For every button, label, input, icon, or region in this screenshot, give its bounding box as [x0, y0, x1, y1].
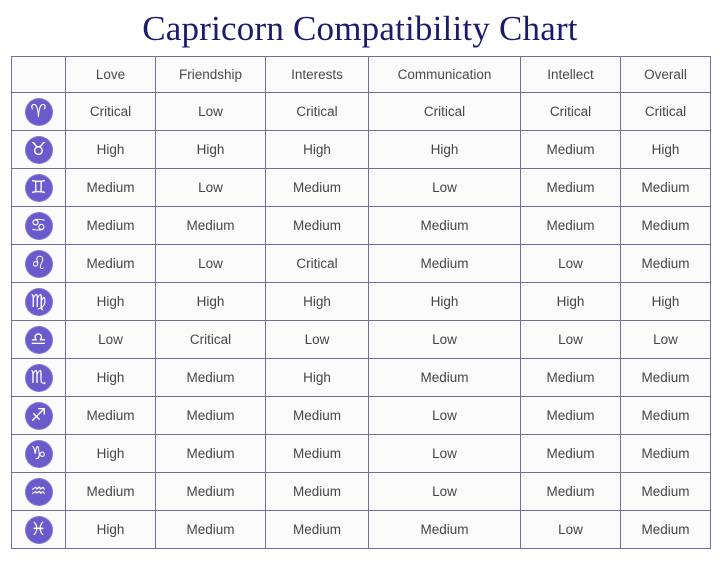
cell-value: Medium [621, 169, 711, 207]
cell-value: Medium [156, 511, 266, 549]
cell-value: High [66, 283, 156, 321]
cell-value: Medium [521, 169, 621, 207]
cell-value: Medium [521, 435, 621, 473]
header-communication: Communication [369, 57, 521, 93]
compatibility-chart-container: Love Friendship Interests Communication … [0, 56, 720, 549]
sign-cell-cancer: ♋ [12, 207, 66, 245]
taurus-zodiac-icon: ♉ [25, 136, 53, 164]
virgo-zodiac-icon: ♍ [25, 288, 53, 316]
table-row: ♓HighMediumMediumMediumLowMedium [12, 511, 711, 549]
sign-cell-sagittarius: ♐ [12, 397, 66, 435]
cell-value: Medium [369, 207, 521, 245]
cell-value: Low [369, 321, 521, 359]
cell-value: Medium [369, 511, 521, 549]
aries-zodiac-icon: ♈ [25, 98, 53, 126]
cell-value: Medium [369, 245, 521, 283]
cell-value: Critical [66, 93, 156, 131]
cell-value: Medium [266, 169, 369, 207]
cell-value: Medium [66, 169, 156, 207]
cell-value: High [369, 131, 521, 169]
cell-value: Low [621, 321, 711, 359]
sign-cell-scorpio: ♏ [12, 359, 66, 397]
sign-cell-virgo: ♍ [12, 283, 66, 321]
cell-value: Medium [156, 207, 266, 245]
table-row: ♑HighMediumMediumLowMediumMedium [12, 435, 711, 473]
page-title: Capricorn Compatibility Chart [0, 0, 720, 56]
cell-value: High [156, 131, 266, 169]
cell-value: Medium [156, 397, 266, 435]
cell-value: High [266, 131, 369, 169]
cell-value: Critical [156, 321, 266, 359]
cell-value: Medium [156, 435, 266, 473]
cell-value: Medium [66, 207, 156, 245]
cell-value: High [66, 131, 156, 169]
cell-value: Low [369, 397, 521, 435]
header-row: Love Friendship Interests Communication … [12, 57, 711, 93]
header-corner [12, 57, 66, 93]
cell-value: Medium [521, 207, 621, 245]
header-intellect: Intellect [521, 57, 621, 93]
cell-value: High [621, 283, 711, 321]
cell-value: Critical [266, 93, 369, 131]
table-row: ♒MediumMediumMediumLowMediumMedium [12, 473, 711, 511]
cell-value: Medium [66, 397, 156, 435]
sign-cell-leo: ♌ [12, 245, 66, 283]
cell-value: Medium [621, 359, 711, 397]
header-overall: Overall [621, 57, 711, 93]
compatibility-table: Love Friendship Interests Communication … [11, 56, 711, 549]
header-friendship: Friendship [156, 57, 266, 93]
table-body: ♈CriticalLowCriticalCriticalCriticalCrit… [12, 93, 711, 549]
cell-value: High [156, 283, 266, 321]
gemini-zodiac-icon: ♊ [25, 174, 53, 202]
cell-value: Low [521, 321, 621, 359]
cell-value: Medium [521, 397, 621, 435]
cell-value: Medium [621, 473, 711, 511]
cell-value: Medium [266, 511, 369, 549]
table-row: ♉HighHighHighHighMediumHigh [12, 131, 711, 169]
table-header: Love Friendship Interests Communication … [12, 57, 711, 93]
sign-cell-aries: ♈ [12, 93, 66, 131]
table-row: ♍HighHighHighHighHighHigh [12, 283, 711, 321]
cell-value: Critical [621, 93, 711, 131]
sign-cell-libra: ♎ [12, 321, 66, 359]
sign-cell-gemini: ♊ [12, 169, 66, 207]
cell-value: High [66, 435, 156, 473]
leo-zodiac-icon: ♌ [25, 250, 53, 278]
cell-value: Medium [621, 245, 711, 283]
cell-value: Medium [66, 245, 156, 283]
header-love: Love [66, 57, 156, 93]
cell-value: Low [266, 321, 369, 359]
cell-value: Low [521, 511, 621, 549]
cell-value: High [621, 131, 711, 169]
cell-value: Low [156, 169, 266, 207]
cell-value: High [266, 283, 369, 321]
cell-value: Low [66, 321, 156, 359]
table-row: ♎LowCriticalLowLowLowLow [12, 321, 711, 359]
cell-value: Medium [156, 359, 266, 397]
sign-cell-capricorn: ♑ [12, 435, 66, 473]
cell-value: Medium [369, 359, 521, 397]
table-row: ♐MediumMediumMediumLowMediumMedium [12, 397, 711, 435]
cell-value: High [521, 283, 621, 321]
cancer-zodiac-icon: ♋ [25, 212, 53, 240]
cell-value: Medium [521, 359, 621, 397]
sign-cell-aquarius: ♒ [12, 473, 66, 511]
sign-cell-pisces: ♓ [12, 511, 66, 549]
header-interests: Interests [266, 57, 369, 93]
cell-value: Medium [621, 435, 711, 473]
cell-value: Medium [266, 397, 369, 435]
cell-value: Critical [521, 93, 621, 131]
table-row: ♌MediumLowCriticalMediumLowMedium [12, 245, 711, 283]
cell-value: Low [369, 169, 521, 207]
cell-value: Medium [66, 473, 156, 511]
cell-value: Medium [521, 131, 621, 169]
cell-value: Medium [521, 473, 621, 511]
pisces-zodiac-icon: ♓ [25, 516, 53, 544]
table-row: ♊MediumLowMediumLowMediumMedium [12, 169, 711, 207]
cell-value: High [266, 359, 369, 397]
aquarius-zodiac-icon: ♒ [25, 478, 53, 506]
cell-value: Critical [266, 245, 369, 283]
sagittarius-zodiac-icon: ♐ [25, 402, 53, 430]
cell-value: Critical [369, 93, 521, 131]
cell-value: Low [156, 93, 266, 131]
libra-zodiac-icon: ♎ [25, 326, 53, 354]
cell-value: Medium [156, 473, 266, 511]
cell-value: Low [156, 245, 266, 283]
sign-cell-taurus: ♉ [12, 131, 66, 169]
cell-value: Low [521, 245, 621, 283]
cell-value: High [66, 511, 156, 549]
cell-value: Medium [621, 207, 711, 245]
cell-value: Low [369, 473, 521, 511]
cell-value: Medium [621, 511, 711, 549]
table-row: ♋MediumMediumMediumMediumMediumMedium [12, 207, 711, 245]
cell-value: Medium [266, 207, 369, 245]
cell-value: Low [369, 435, 521, 473]
cell-value: Medium [621, 397, 711, 435]
table-row: ♈CriticalLowCriticalCriticalCriticalCrit… [12, 93, 711, 131]
cell-value: Medium [266, 473, 369, 511]
cell-value: Medium [266, 435, 369, 473]
cell-value: High [369, 283, 521, 321]
capricorn-zodiac-icon: ♑ [25, 440, 53, 468]
scorpio-zodiac-icon: ♏ [25, 364, 53, 392]
table-row: ♏HighMediumHighMediumMediumMedium [12, 359, 711, 397]
cell-value: High [66, 359, 156, 397]
